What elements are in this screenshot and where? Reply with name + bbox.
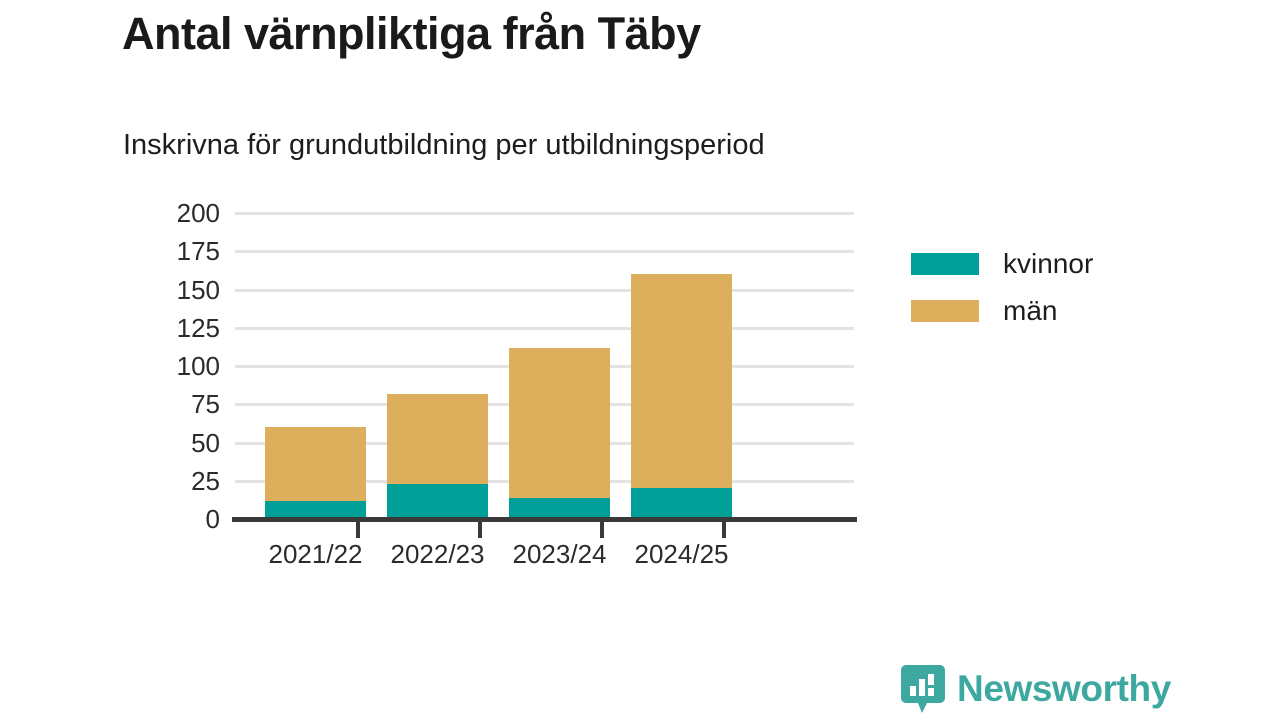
brand-wordmark: Newsworthy [957,668,1171,710]
y-axis-tick-label: 100 [130,353,220,379]
legend-item-kvinnor[interactable]: kvinnor [911,240,1093,287]
bar-segment-kvinnor[interactable] [387,484,488,519]
plot-area: 0255075100125150175200 2021/222022/23202… [0,0,1280,720]
y-axis-tick-label: 0 [130,506,220,532]
x-axis-tick [356,521,360,538]
newsworthy-logo[interactable]: Newsworthy [900,663,1171,715]
x-axis-tick-label: 2024/25 [623,539,740,570]
y-axis-tick-label: 50 [130,430,220,456]
y-axis-tick-label: 25 [130,468,220,494]
bar-segment-man[interactable] [265,427,366,500]
legend-item-män[interactable]: män [911,287,1093,334]
bar-segment-kvinnor[interactable] [631,488,732,519]
y-axis-tick-label: 125 [130,315,220,341]
x-axis-tick [722,521,726,538]
legend-label: män [1003,295,1057,327]
bar-segment-man[interactable] [387,394,488,484]
y-axis-tick-label: 200 [130,200,220,226]
chart-page: Antal värnpliktiga från Täby Inskrivna f… [0,0,1280,720]
bar-2024-25[interactable] [631,274,732,519]
y-axis-tick-label: 75 [130,391,220,417]
bar-segment-man[interactable] [631,274,732,488]
gridline [235,250,854,253]
gridline [235,327,854,330]
bar-segment-man[interactable] [509,348,610,498]
gridline [235,212,854,215]
x-axis-tick [478,521,482,538]
bar-2022-23[interactable] [387,394,488,519]
x-axis-tick-label: 2021/22 [257,539,374,570]
y-axis-tick-label: 175 [130,238,220,264]
x-axis-tick-label: 2023/24 [501,539,618,570]
bar-segment-kvinnor[interactable] [509,498,610,519]
chart-legend: kvinnormän [911,240,1093,334]
x-axis-line [232,517,857,522]
x-axis-tick [600,521,604,538]
legend-label: kvinnor [1003,248,1093,280]
legend-swatch-kvinnor [911,253,979,275]
y-axis: 0255075100125150175200 [128,0,220,720]
speech-bubble-bar-chart-icon [900,663,946,715]
gridline [235,289,854,292]
bar-2023-24[interactable] [509,348,610,519]
legend-swatch-män [911,300,979,322]
x-axis-tick-label: 2022/23 [379,539,496,570]
y-axis-tick-label: 150 [130,277,220,303]
bar-2021-22[interactable] [265,427,366,519]
